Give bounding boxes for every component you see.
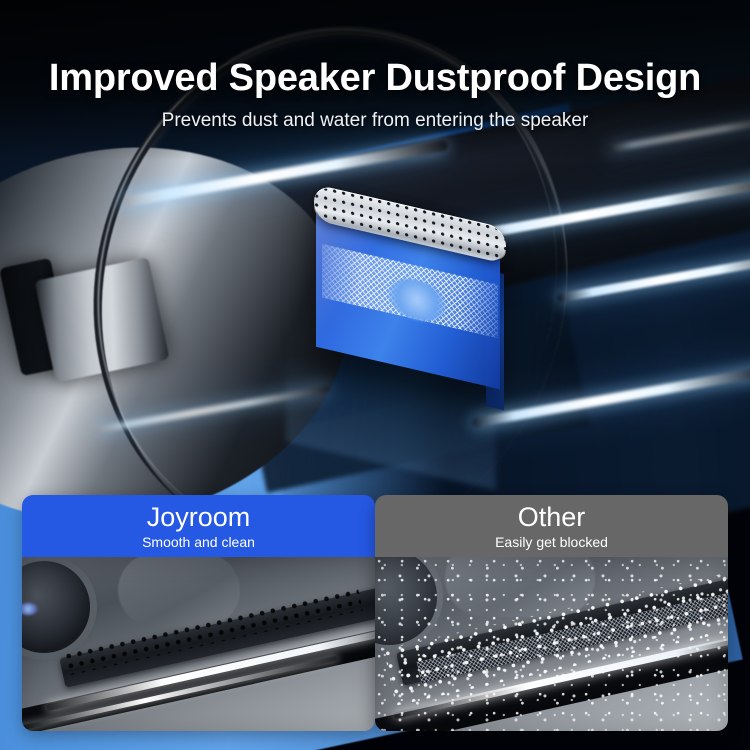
- photo-camera-pill: [118, 557, 240, 627]
- panel-title: Other: [518, 502, 586, 532]
- comparison-panel-other: Other Easily get blocked: [375, 495, 728, 731]
- hero-dustproof-mesh: [300, 198, 530, 408]
- page-title: Improved Speaker Dustproof Design: [0, 56, 750, 100]
- product-feature-image: Improved Speaker Dustproof Design Preven…: [0, 0, 750, 750]
- panel-caption: Smooth and clean: [142, 533, 255, 551]
- panel-header-band-other: Other Easily get blocked: [375, 495, 728, 557]
- comparison-panel-joyroom: Joyroom Smooth and clean: [22, 495, 375, 731]
- panel-title: Joyroom: [147, 502, 251, 532]
- panel-photo-clean-grille: [22, 557, 375, 731]
- panel-header-band-joyroom: Joyroom Smooth and clean: [22, 495, 375, 557]
- page-subtitle: Prevents dust and water from entering th…: [0, 108, 750, 134]
- panel-photo-blocked-grille: [375, 557, 728, 731]
- panel-caption: Easily get blocked: [495, 533, 608, 551]
